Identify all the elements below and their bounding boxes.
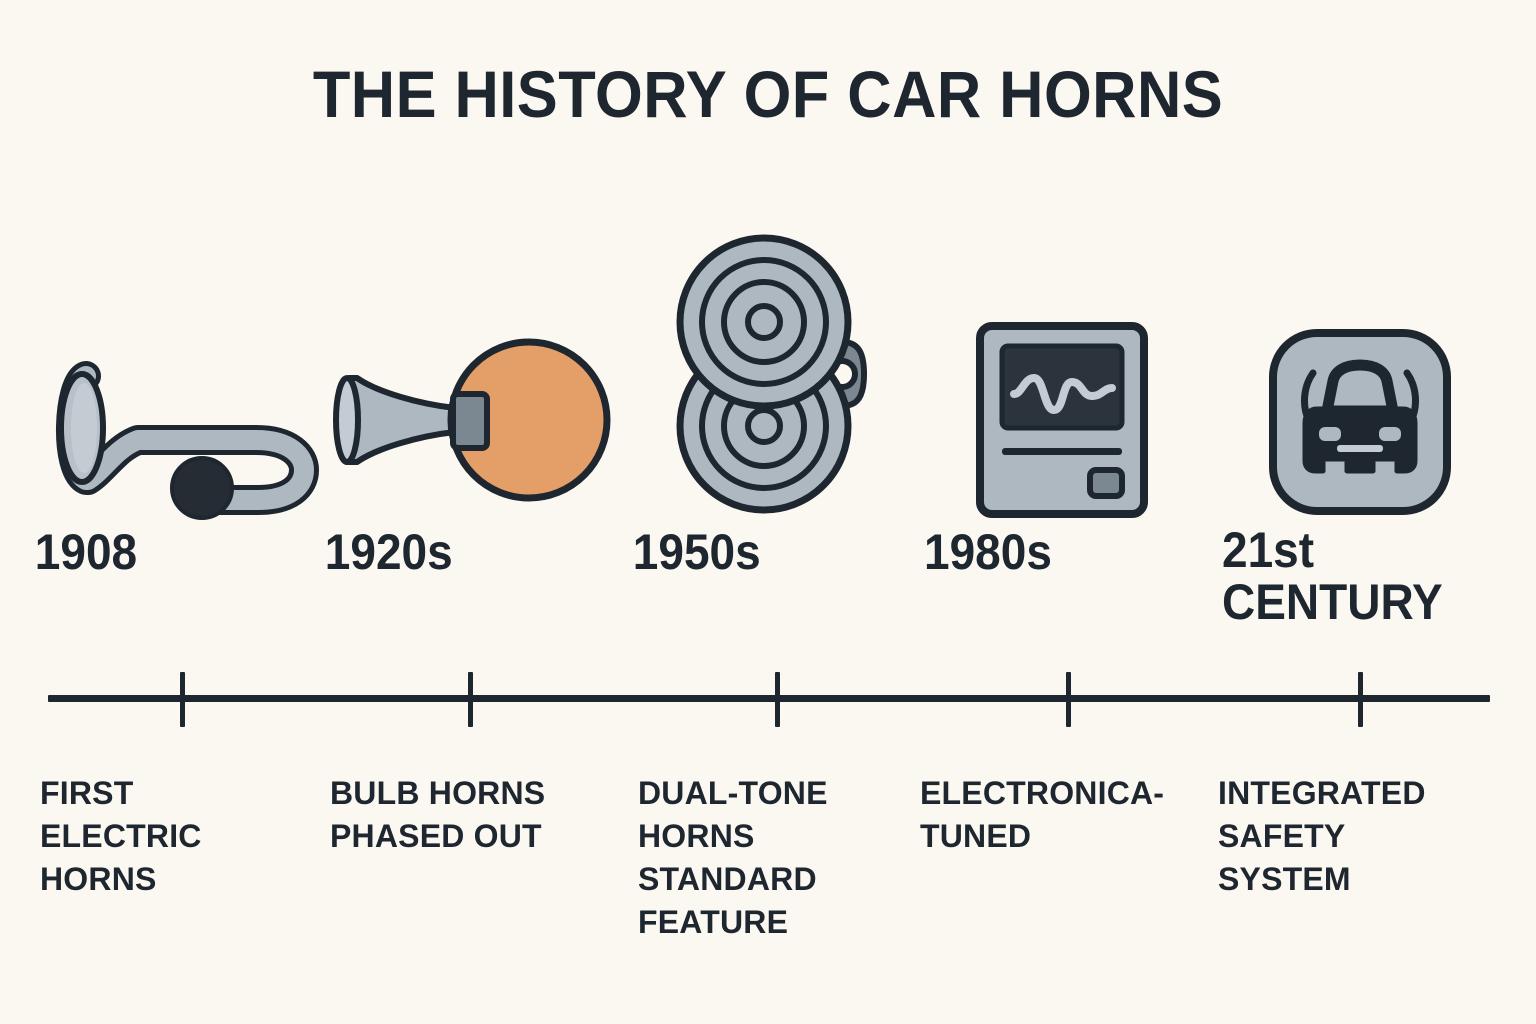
icon-container-21st-century: [1210, 240, 1510, 520]
dual-tone-disc-horn-icon: [670, 230, 890, 520]
icon-container-1980s: [912, 250, 1212, 520]
description-21st-century: INTEGRATED SAFETY SYSTEM: [1218, 772, 1508, 901]
icon-container-1950s: [620, 222, 940, 520]
timeline-entry-1980s: [912, 250, 1212, 520]
year-label-21st-century: 21st CENTURY: [1222, 524, 1498, 628]
timeline-tick-1920s: [468, 672, 473, 727]
page-title: THE HISTORY OF CAR HORNS: [54, 56, 1482, 132]
description-1908: FIRST ELECTRIC HORNS: [40, 772, 324, 901]
timeline-entry-1950s: [620, 222, 940, 520]
car-safety-app-icon: [1265, 325, 1455, 520]
waveform-monitor-icon: [972, 320, 1152, 520]
description-1920s: BULB HORNS PHASED OUT: [330, 772, 614, 858]
timeline-tick-21st: [1358, 672, 1363, 727]
icon-container-1920s: [312, 240, 632, 520]
description-1950s: DUAL-TONE HORNS STANDARD FEATURE: [638, 772, 922, 944]
icon-container-1908: [22, 240, 342, 520]
year-label-1950s: 1950s: [633, 524, 927, 580]
year-label-1920s: 1920s: [325, 524, 619, 580]
timeline-tick-1980s: [1066, 672, 1071, 727]
timeline-entry-21st-century: [1210, 240, 1510, 520]
year-label-1908: 1908: [35, 524, 329, 580]
timeline-tick-1950s: [775, 672, 780, 727]
timeline-entry-1908: [22, 240, 342, 520]
timeline-tick-1908: [180, 672, 185, 727]
timeline-entry-1920s: [312, 240, 632, 520]
rubber-bulb-horn-icon: [327, 320, 617, 520]
bulb-horn-coiled-icon: [42, 340, 322, 520]
year-label-1980s: 1980s: [924, 524, 1200, 580]
description-1980s: ELECTRONICA- TUNED: [920, 772, 1210, 858]
timeline-axis: [48, 695, 1490, 702]
